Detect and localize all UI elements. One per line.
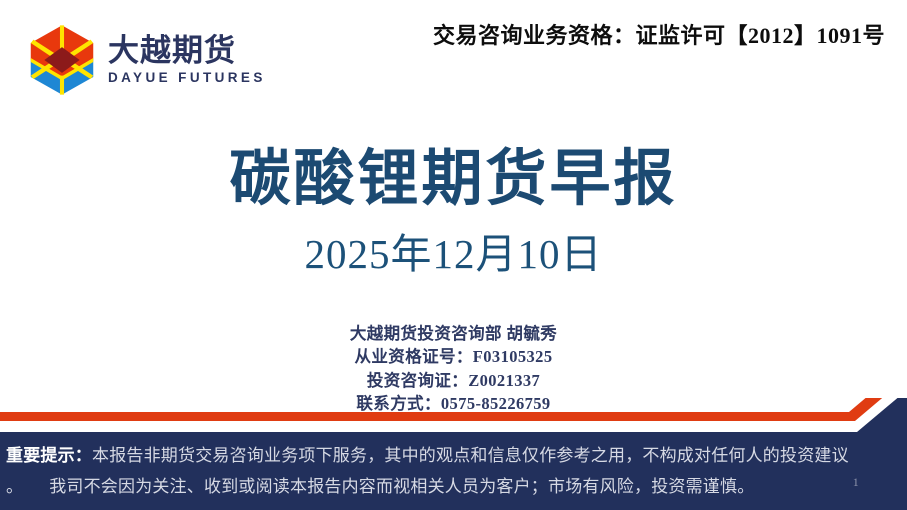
logo-wordmark: 大越期货 DAYUE FUTURES [108, 35, 266, 84]
logo-chinese-name: 大越期货 [108, 35, 266, 68]
disclaimer-lead-label: 重要提示： [6, 446, 92, 465]
company-logo: 大越期货 DAYUE FUTURES [28, 24, 266, 96]
page-number: 1 [853, 471, 859, 493]
license-statement: 交易咨询业务资格：证监许可【2012】1091号 [433, 18, 885, 50]
disclaimer-banner: 重要提示：本报告非期货交易咨询业务项下服务，其中的观点和信息仅作参考之用，不构成… [0, 432, 907, 510]
page-title: 碳酸锂期货早报 [0, 145, 907, 215]
slide-root: 大越期货 DAYUE FUTURES 交易咨询业务资格：证监许可【2012】10… [0, 0, 907, 510]
disclaimer-line2-wrap: 。我司不会因为关注、收到或阅读本报告内容而视相关人员为客户；市场有风险，投资需谨… [6, 471, 899, 502]
dayue-hexagon-logo-icon [28, 24, 96, 96]
report-date: 2025年12月10日 [0, 231, 907, 278]
red-accent-stripe [0, 398, 907, 421]
author-department: 大越期货投资咨询部 胡毓秀 [0, 322, 907, 345]
disclaimer-line1: 本报告非期货交易咨询业务项下服务，其中的观点和信息仅作参考之用，不构成对任何人的… [92, 446, 849, 465]
disclaimer-line2-start: 。 [6, 477, 23, 496]
title-area: 碳酸锂期货早报 2025年12月10日 [0, 145, 907, 278]
author-qualification: 从业资格证号：F03105325 [0, 345, 907, 368]
slide-header: 大越期货 DAYUE FUTURES 交易咨询业务资格：证监许可【2012】10… [0, 0, 907, 110]
disclaimer-line2: 我司不会因为关注、收到或阅读本报告内容而视相关人员为客户；市场有风险，投资需谨慎… [49, 477, 754, 496]
logo-english-name: DAYUE FUTURES [108, 71, 266, 85]
author-consulting-cert: 投资咨询证：Z0021337 [0, 369, 907, 392]
